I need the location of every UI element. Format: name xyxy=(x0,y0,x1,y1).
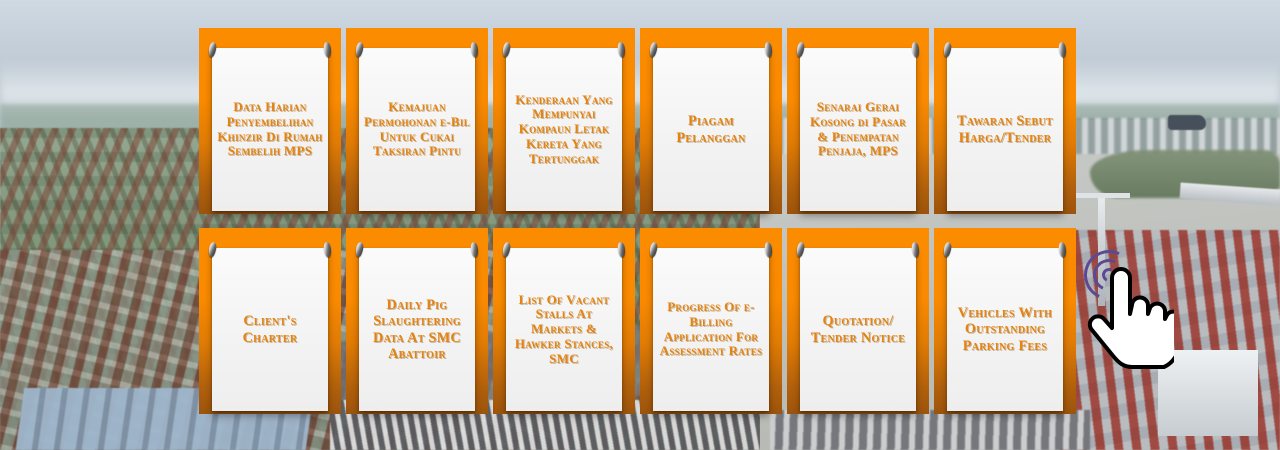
boat xyxy=(1168,115,1206,130)
pin-icon xyxy=(796,242,805,258)
card-label: Kenderaan Yang Mempunyai Kompaun Letak K… xyxy=(511,93,617,166)
card-label: Piagam Pelanggan xyxy=(658,113,764,146)
card-label: Tawaran Sebut Harga/Tender xyxy=(952,113,1058,146)
service-card[interactable]: Data Harian Penyembelihan Khinzir Di Rum… xyxy=(199,28,341,214)
card-paper: Daily Pig Slaughtering Data At SMC Abatt… xyxy=(359,248,475,411)
card-paper: Vehicles With Outstanding Parking Fees xyxy=(947,248,1063,411)
pin-icon xyxy=(764,42,773,58)
card-label: Vehicles With Outstanding Parking Fees xyxy=(952,305,1058,354)
card-label: List Of Vacant Stalls At Markets & Hawke… xyxy=(511,293,617,366)
service-card[interactable]: Daily Pig Slaughtering Data At SMC Abatt… xyxy=(346,228,488,414)
card-label: Quotation/ Tender Notice xyxy=(805,313,911,346)
service-card[interactable]: Client's Charter xyxy=(199,228,341,414)
pin-icon xyxy=(323,42,332,58)
service-card[interactable]: Piagam Pelanggan xyxy=(640,28,782,214)
card-row-1: Data Harian Penyembelihan Khinzir Di Rum… xyxy=(199,28,1081,214)
service-card[interactable]: List Of Vacant Stalls At Markets & Hawke… xyxy=(493,228,635,414)
card-paper: Kenderaan Yang Mempunyai Kompaun Letak K… xyxy=(506,48,622,211)
card-paper: Senarai Gerai Kosong di Pasar & Penempat… xyxy=(800,48,916,211)
pin-icon xyxy=(649,242,658,258)
pin-icon xyxy=(943,242,952,258)
card-label: Progress Of e-Billing Application For As… xyxy=(658,300,764,359)
service-card[interactable]: Kenderaan Yang Mempunyai Kompaun Letak K… xyxy=(493,28,635,214)
pin-icon xyxy=(355,42,364,58)
pin-icon xyxy=(911,242,920,258)
service-card[interactable]: Tawaran Sebut Harga/Tender xyxy=(934,28,1076,214)
card-label: Senarai Gerai Kosong di Pasar & Penempat… xyxy=(805,100,911,159)
card-paper: Data Harian Penyembelihan Khinzir Di Rum… xyxy=(212,48,328,211)
card-paper: Kemajuan Permohonan e-Bil Untuk Cukai Ta… xyxy=(359,48,475,211)
pin-icon xyxy=(796,42,805,58)
service-card[interactable]: Senarai Gerai Kosong di Pasar & Penempat… xyxy=(787,28,929,214)
pin-icon xyxy=(617,42,626,58)
pin-icon xyxy=(943,42,952,58)
service-card[interactable]: Quotation/ Tender Notice xyxy=(787,228,929,414)
pin-icon xyxy=(764,242,773,258)
pin-icon xyxy=(617,242,626,258)
service-card-grid: Data Harian Penyembelihan Khinzir Di Rum… xyxy=(199,28,1081,418)
pin-icon xyxy=(502,42,511,58)
page-root: Data Harian Penyembelihan Khinzir Di Rum… xyxy=(0,0,1280,450)
card-label: Kemajuan Permohonan e-Bil Untuk Cukai Ta… xyxy=(364,100,470,159)
card-paper: Piagam Pelanggan xyxy=(653,48,769,211)
card-label: Client's Charter xyxy=(217,313,323,346)
pin-icon xyxy=(470,242,479,258)
pin-icon xyxy=(502,242,511,258)
pin-icon xyxy=(355,242,364,258)
port-building xyxy=(1158,350,1258,436)
card-paper: Tawaran Sebut Harga/Tender xyxy=(947,48,1063,211)
card-paper: Quotation/ Tender Notice xyxy=(800,248,916,411)
pin-icon xyxy=(911,42,920,58)
card-paper: Client's Charter xyxy=(212,248,328,411)
service-card[interactable]: Vehicles With Outstanding Parking Fees xyxy=(934,228,1076,414)
pin-icon xyxy=(1058,242,1067,258)
port-crane xyxy=(1098,196,1105,306)
card-label: Daily Pig Slaughtering Data At SMC Abatt… xyxy=(364,297,470,363)
service-card[interactable]: Kemajuan Permohonan e-Bil Untuk Cukai Ta… xyxy=(346,28,488,214)
pin-icon xyxy=(208,242,217,258)
service-card[interactable]: Progress Of e-Billing Application For As… xyxy=(640,228,782,414)
pin-icon xyxy=(323,242,332,258)
card-label: Data Harian Penyembelihan Khinzir Di Rum… xyxy=(217,100,323,159)
card-paper: Progress Of e-Billing Application For As… xyxy=(653,248,769,411)
pin-icon xyxy=(470,42,479,58)
card-row-2: Client's Charter Daily Pig Slaughtering … xyxy=(199,228,1081,414)
card-paper: List Of Vacant Stalls At Markets & Hawke… xyxy=(506,248,622,411)
pin-icon xyxy=(649,42,658,58)
pin-icon xyxy=(208,42,217,58)
pin-icon xyxy=(1058,42,1067,58)
